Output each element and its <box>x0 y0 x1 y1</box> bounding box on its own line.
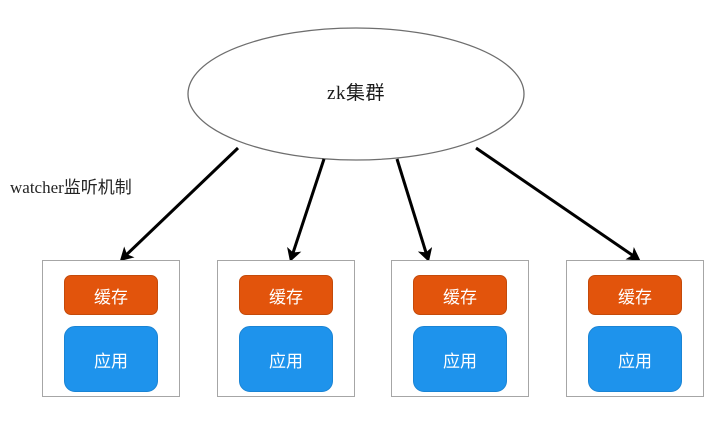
cache-chip-4: 缓存 <box>588 275 682 315</box>
edge-to-node-3 <box>397 159 428 259</box>
node-box-4: 缓存 应用 <box>566 260 704 397</box>
edge-to-node-2 <box>291 159 324 259</box>
edge-to-node-4 <box>476 148 638 259</box>
node-box-1: 缓存 应用 <box>42 260 180 397</box>
cache-chip-2: 缓存 <box>239 275 333 315</box>
cache-chip-3: 缓存 <box>413 275 507 315</box>
app-chip-4: 应用 <box>588 326 682 392</box>
edge-to-node-1 <box>122 148 238 259</box>
diagram-canvas: zk集群 watcher监听机制 缓存 应用 缓存 应用 缓存 应用 缓存 应用 <box>0 0 725 425</box>
watcher-mechanism-label: watcher监听机制 <box>10 173 132 198</box>
node-box-3: 缓存 应用 <box>391 260 529 397</box>
app-chip-2: 应用 <box>239 326 333 392</box>
app-chip-1: 应用 <box>64 326 158 392</box>
zk-cluster-label: zk集群 <box>188 78 524 105</box>
app-chip-3: 应用 <box>413 326 507 392</box>
cache-chip-1: 缓存 <box>64 275 158 315</box>
node-box-2: 缓存 应用 <box>217 260 355 397</box>
